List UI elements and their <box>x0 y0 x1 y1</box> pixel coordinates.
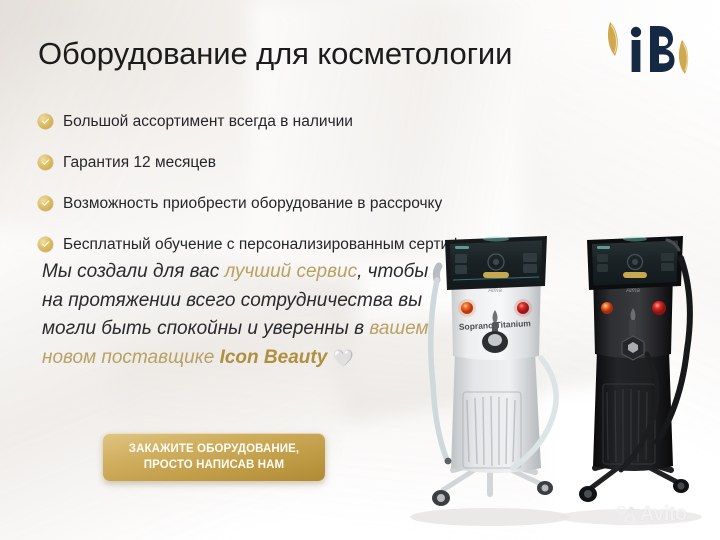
check-circle-icon <box>38 155 53 170</box>
device-wheel <box>673 479 689 493</box>
benefit-label: Гарантия 12 месяцев <box>63 154 216 172</box>
device-touchscreen <box>445 236 547 290</box>
benefit-label: Большой ассортимент всегда в наличии <box>63 113 353 131</box>
list-item: Возможность приобрести оборудование в ра… <box>38 187 708 220</box>
black-laser-device: Alma <box>579 236 690 502</box>
check-circle-icon <box>38 196 53 211</box>
check-circle-icon <box>38 237 53 252</box>
logo-letters <box>631 26 675 72</box>
device-brand-label: Alma <box>625 288 640 294</box>
device-wheel <box>537 481 553 495</box>
cta-line-2: ПРОСТО НАПИСАВ НАМ <box>144 457 284 473</box>
cta-line-1: ЗАКАЖИТЕ ОБОРУДОВАНИЕ, <box>129 441 299 457</box>
emergency-stop-button <box>652 301 666 315</box>
laurel-leaf-left-icon <box>608 22 618 56</box>
promise-part-1: Мы создали для вас <box>42 261 224 282</box>
indicator-lamp <box>601 302 613 314</box>
avito-dots-icon <box>616 504 637 525</box>
promise-highlight-1: лучший сервис <box>224 261 357 282</box>
avito-label: Avito <box>640 503 687 526</box>
check-circle-icon <box>38 114 53 129</box>
promise-paragraph: Мы создали для вас лучший сервис, чтобы … <box>42 258 434 373</box>
laurel-leaf-right-icon <box>679 40 688 74</box>
heart-icon: 🤍 <box>333 345 354 374</box>
avito-watermark: Avito <box>616 503 687 526</box>
promo-poster: Оборудование для косметологии Большой ас… <box>0 0 720 540</box>
screen-action-button <box>623 272 647 278</box>
device-wheel <box>579 486 597 502</box>
device-shadow <box>410 508 570 526</box>
device-wheel <box>432 490 450 506</box>
laser-devices-photo: Alma Soprano Titanium <box>395 232 720 532</box>
benefit-label: Возможность приобрести оборудование в ра… <box>63 195 442 213</box>
list-item: Большой ассортимент всегда в наличии <box>38 105 708 138</box>
icon-beauty-logo <box>596 14 696 84</box>
list-item: Гарантия 12 месяцев <box>38 146 708 179</box>
brand-name: Icon Beauty <box>220 347 328 368</box>
order-equipment-button[interactable]: ЗАКАЖИТЕ ОБОРУДОВАНИЕ, ПРОСТО НАПИСАВ НА… <box>103 433 325 481</box>
device-brand-label: Alma <box>487 288 502 294</box>
white-laser-device: Alma Soprano Titanium <box>431 236 556 506</box>
device-touchscreen <box>587 236 683 290</box>
screen-action-button <box>483 272 509 278</box>
page-title: Оборудование для косметологии <box>38 36 512 72</box>
